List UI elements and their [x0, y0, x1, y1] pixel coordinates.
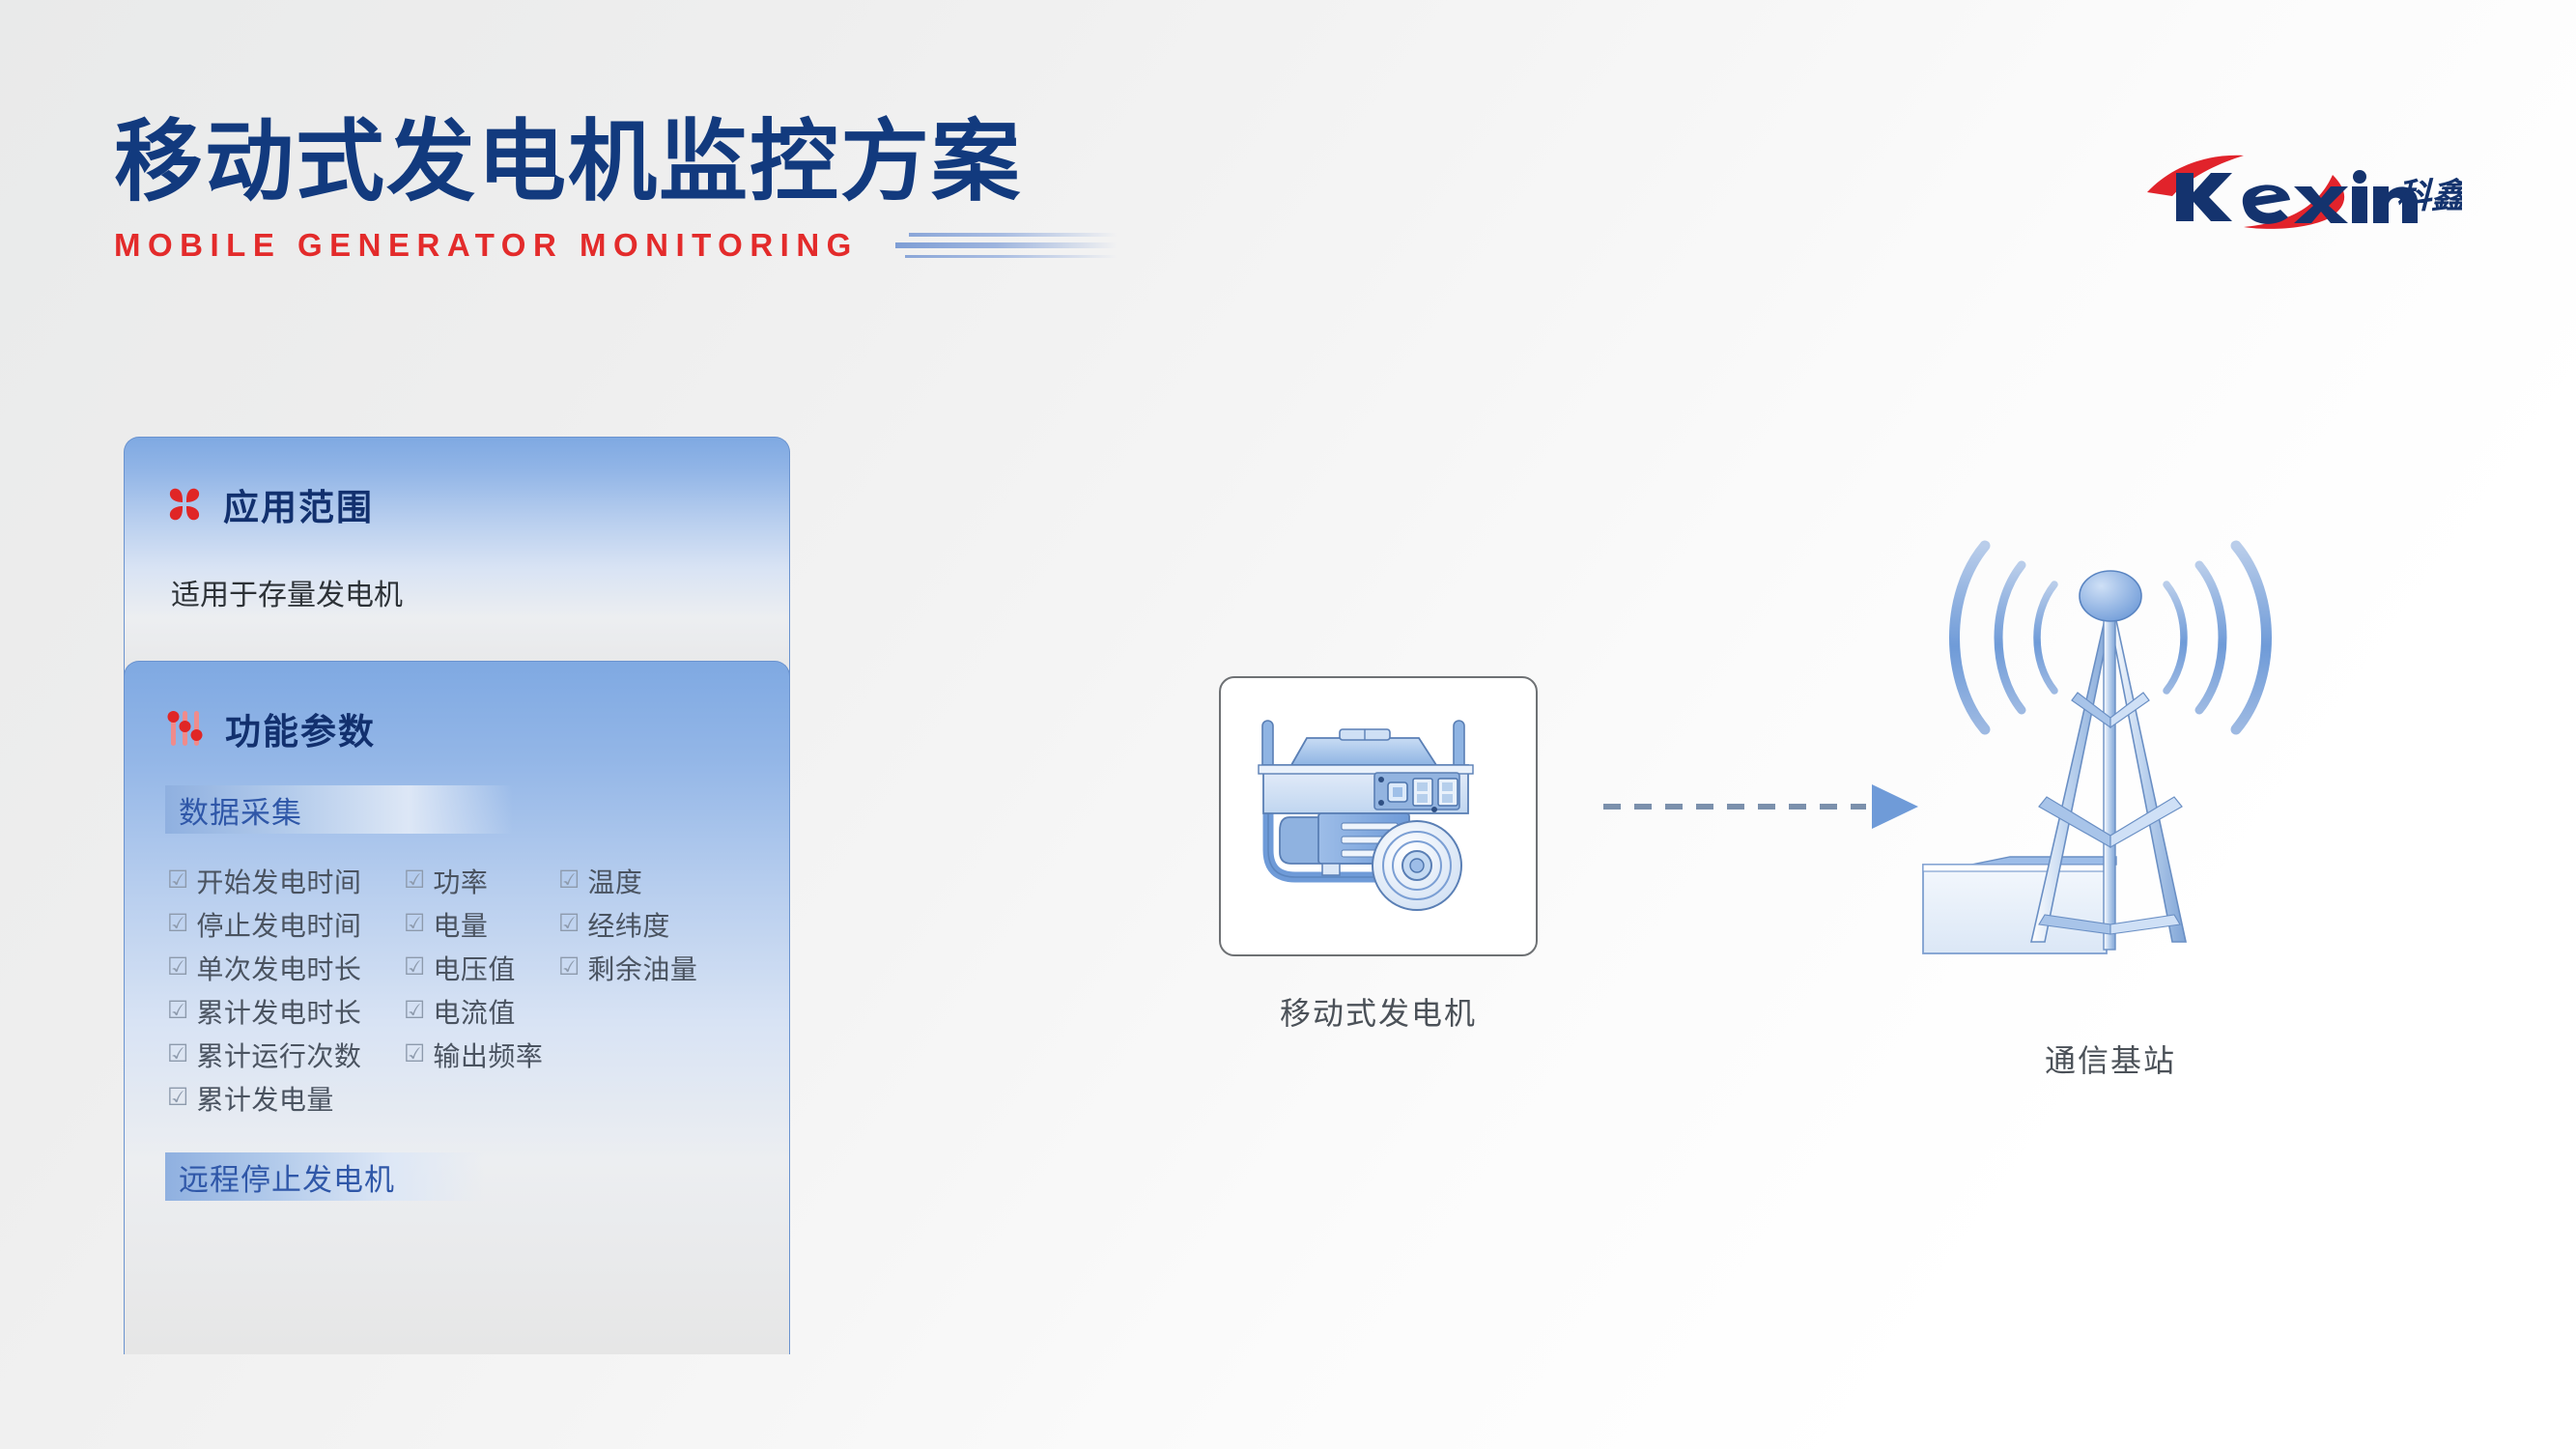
checkbox-icon: ☑ — [404, 955, 425, 980]
checklist-item[interactable]: ☑功率 — [404, 859, 558, 902]
section-bar-remote-stop: 远程停止发电机 — [165, 1152, 484, 1201]
checklist-item-label: 电流值 — [433, 992, 516, 1031]
checklist-item[interactable]: ☑电压值 — [404, 946, 558, 989]
checklist-item[interactable]: ☑经纬度 — [558, 902, 789, 946]
card-params-header: 功能参数 — [125, 662, 789, 754]
checkbox-icon: ☑ — [404, 1042, 425, 1066]
section-label-data-collection: 数据采集 — [179, 788, 302, 832]
card-scope-title: 应用范围 — [223, 478, 374, 530]
checklist-item[interactable]: ☑单次发电时长 — [167, 946, 404, 989]
card-params-title: 功能参数 — [225, 702, 376, 754]
connection-arrow — [1603, 773, 1922, 840]
checkbox-icon: ☑ — [404, 912, 425, 936]
checkbox-icon: ☑ — [558, 955, 580, 980]
tower-label: 通信基站 — [1917, 1037, 2304, 1081]
clover-icon — [165, 485, 204, 524]
checklist-item-label: 开始发电时间 — [196, 862, 361, 900]
checklist-item-label: 功率 — [433, 862, 488, 900]
checklist-item[interactable]: ☑停止发电时间 — [167, 902, 404, 946]
checklist-item[interactable]: ☑剩余油量 — [558, 946, 789, 989]
page-title: 移动式发电机监控方案 — [114, 116, 2471, 210]
checklist-item[interactable]: ☑开始发电时间 — [167, 859, 404, 902]
tower-node: 通信基站 — [1917, 488, 2304, 1081]
checkbox-icon: ☑ — [167, 999, 188, 1023]
checklist-item-label: 电压值 — [433, 949, 516, 987]
checkbox-icon: ☑ — [167, 868, 188, 893]
sliders-icon — [165, 708, 206, 749]
generator-label: 移动式发电机 — [1219, 989, 1538, 1034]
checklist-item-label: 累计运行次数 — [196, 1036, 361, 1074]
generator-node: 移动式发电机 — [1219, 676, 1538, 1034]
checkbox-icon: ☑ — [167, 1086, 188, 1110]
page-subtitle: MOBILE GENERATOR MONITORING — [114, 227, 859, 264]
checklist-item-label: 经纬度 — [587, 905, 670, 944]
checklist-item[interactable]: ☑累计运行次数 — [167, 1033, 404, 1076]
checklist-item-label: 电量 — [433, 905, 488, 944]
brand-logo: 科鑫 — [2143, 150, 2462, 233]
checklist-item-label: 剩余油量 — [587, 949, 697, 987]
checklist-item[interactable]: ☑输出频率 — [404, 1033, 558, 1076]
checklist-item-label: 停止发电时间 — [196, 905, 361, 944]
checkbox-icon: ☑ — [558, 912, 580, 936]
checklist-item-label: 输出频率 — [433, 1036, 543, 1074]
slide-root: 移动式发电机监控方案 MOBILE GENERATOR MONITORING — [0, 0, 2576, 1449]
checkbox-icon: ☑ — [404, 868, 425, 893]
data-collection-checklist: ☑开始发电时间 ☑功率 ☑温度 ☑停止发电时间 ☑电量 ☑经纬度 ☑单次发电时长… — [167, 859, 789, 1120]
checklist-item[interactable]: ☑累计发电时长 — [167, 989, 404, 1033]
checklist-item[interactable]: ☑电量 — [404, 902, 558, 946]
checklist-item[interactable]: ☑温度 — [558, 859, 789, 902]
subtitle-decorative-lines — [895, 229, 1118, 262]
checklist-item-label: 单次发电时长 — [196, 949, 361, 987]
checkbox-icon: ☑ — [167, 955, 188, 980]
cell-tower-illustration — [1917, 488, 2304, 1029]
checkbox-icon: ☑ — [558, 868, 580, 893]
checkbox-icon: ☑ — [404, 999, 425, 1023]
subtitle-row: MOBILE GENERATOR MONITORING — [114, 227, 2471, 264]
card-function-parameters: 功能参数 数据采集 ☑开始发电时间 ☑功率 ☑温度 ☑停止发电时间 ☑电量 ☑经… — [124, 661, 790, 1354]
svg-text:科鑫: 科鑫 — [2396, 177, 2462, 216]
header: 移动式发电机监控方案 MOBILE GENERATOR MONITORING — [114, 116, 2471, 328]
card-scope-header: 应用范围 — [125, 438, 789, 530]
checklist-item-label: 温度 — [587, 862, 642, 900]
generator-image-card — [1219, 676, 1538, 956]
generator-illustration — [1247, 705, 1510, 927]
checkbox-icon: ☑ — [167, 1042, 188, 1066]
checklist-item-label: 累计发电量 — [196, 1079, 334, 1118]
card-scope-body: 适用于存量发电机 — [125, 530, 789, 613]
checklist-item-label: 累计发电时长 — [196, 992, 361, 1031]
left-info-panel: 应用范围 适用于存量发电机 功能参数 — [124, 437, 800, 1354]
section-bar-data-collection: 数据采集 — [165, 785, 513, 834]
section-label-remote-stop: 远程停止发电机 — [179, 1155, 395, 1199]
checklist-item[interactable]: ☑累计发电量 — [167, 1076, 404, 1120]
card-application-scope: 应用范围 适用于存量发电机 — [124, 437, 790, 688]
checkbox-icon: ☑ — [167, 912, 188, 936]
checklist-item[interactable]: ☑电流值 — [404, 989, 558, 1033]
